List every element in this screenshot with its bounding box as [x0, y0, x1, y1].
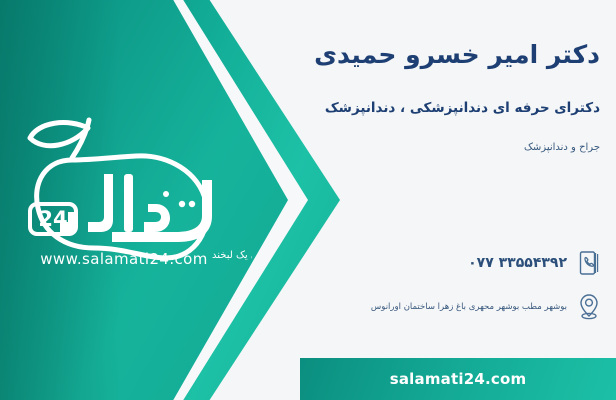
doctor-name: دکتر امیر خسرو حمیدی: [300, 41, 600, 70]
svg-text:24: 24: [38, 207, 67, 231]
address-text: بوشهر مطب بوشهر محهری باغ زهرا ساختمان ا…: [371, 302, 567, 312]
business-card: 24 به راحتی یک لبخند www.salamati24.com …: [0, 0, 616, 400]
doctor-specialty: جراح و دندانپزشک: [300, 142, 600, 154]
brand-website: www.salamati24.com: [14, 250, 234, 268]
map-pin-icon: [576, 292, 602, 322]
footer-website[interactable]: salamati24.com: [390, 370, 527, 388]
phone-book-icon: [576, 248, 602, 278]
brand-wordmark: [60, 174, 212, 242]
doctor-degree: دکترای حرفه ای دندانپزشکی ، دندانپزشک: [300, 100, 600, 116]
card-content: دکتر امیر خسرو حمیدی دکترای حرفه ای دندا…: [286, 0, 616, 400]
contact-phone-row[interactable]: ۳۳۵۵۴۳۹۲ ۰۷۷: [468, 248, 602, 278]
contact-address-row[interactable]: بوشهر مطب بوشهر محهری باغ زهرا ساختمان ا…: [371, 292, 602, 322]
phone-number: ۳۳۵۵۴۳۹۲ ۰۷۷: [468, 255, 567, 271]
brand-logo: 24 به راحتی یک لبخند: [16, 108, 252, 268]
footer-bar: salamati24.com: [300, 358, 616, 400]
